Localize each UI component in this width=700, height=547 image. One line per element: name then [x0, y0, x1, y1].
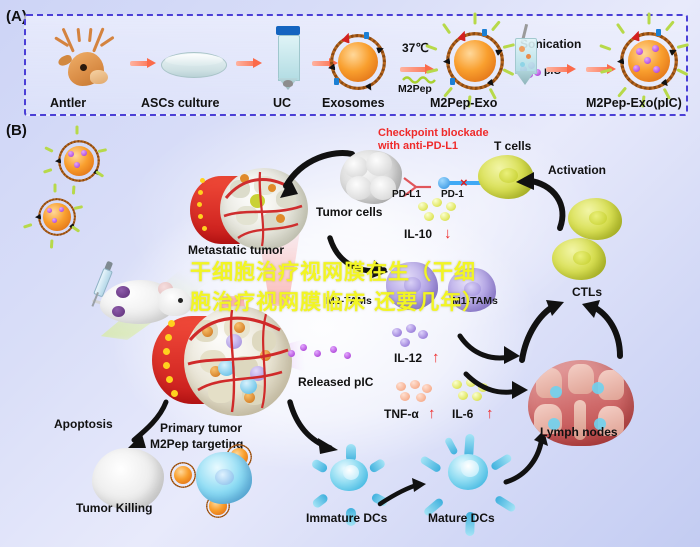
centrifuge-tube-icon — [276, 26, 300, 88]
mature-dc-illustration — [434, 440, 502, 504]
targeting-exosome-icon — [170, 462, 196, 488]
tnf-alpha-arrow: ↑ — [428, 406, 436, 422]
primary-tumor-label: Primary tumor — [160, 422, 242, 435]
t-cells-label: T cells — [494, 140, 531, 153]
primary-tumor-illustration — [152, 300, 294, 426]
petri-dish-icon — [161, 52, 227, 78]
exosome-pic-icon — [620, 32, 678, 90]
checkpoint-blockade-line1: Checkpoint blockade — [378, 128, 489, 140]
step-label-uc: UC — [273, 96, 291, 110]
exosome-peptide-icon — [446, 32, 504, 90]
arrow-to-m2tam — [328, 232, 390, 280]
arrow-dc-maturation — [378, 478, 428, 510]
step-label-m2pep-exo-pic: M2Pep-Exo(pIC) — [586, 96, 682, 110]
m1-tams-label: M1-TAMs — [452, 296, 498, 307]
deer-icon — [50, 26, 124, 88]
step-label-m2pep-exo: M2Pep-Exo — [430, 96, 497, 110]
step-label-exosomes: Exosomes — [322, 96, 385, 110]
ctls-label: CTLs — [572, 286, 602, 299]
activation-label: Activation — [548, 164, 606, 177]
arrow-lymph-to-ctl-right — [580, 300, 628, 360]
released-pic-label: Released pIC — [298, 376, 373, 389]
exosome-particle-icon — [58, 140, 100, 182]
lymph-nodes-label: Lymph nodes — [540, 426, 618, 439]
metastatic-tumor-label: Metastatic tumor — [188, 244, 284, 257]
scientific-figure: (A) Antler ASCs culture — [0, 0, 700, 547]
tumor-killing-label: Tumor Killing — [76, 502, 152, 515]
il-12-label: IL-12 — [394, 352, 422, 365]
process-arrow — [546, 64, 576, 74]
checkpoint-blockade-line2: with anti-PD-L1 — [378, 141, 458, 153]
il-10-label: IL-10 — [404, 228, 432, 241]
immature-dcs-label: Immature DCs — [306, 512, 387, 525]
targeted-macrophage-illustration — [196, 452, 252, 504]
panel-a-container: Antler ASCs culture UC — [24, 14, 688, 116]
m2-tams-label: M2-TAMs — [326, 296, 372, 307]
step-label-antler: Antler — [50, 96, 86, 110]
m2pep-label: M2Pep — [398, 84, 432, 95]
arrow-apoptosis — [126, 400, 170, 452]
il-10-arrow: ↓ — [444, 226, 452, 242]
m2-tam-illustration — [386, 262, 438, 310]
mature-dcs-label: Mature DCs — [428, 512, 495, 525]
arrow-lymph-to-ctl-left — [520, 300, 574, 364]
arrow-cytokines-to-lymph — [464, 372, 530, 414]
temperature-label: 37℃ — [402, 42, 429, 55]
process-arrow — [130, 58, 156, 68]
exosome-icon — [330, 34, 386, 90]
step-label-ascs: ASCs culture — [141, 96, 220, 110]
panel-b-tag: (B) — [6, 122, 27, 139]
ctl-cell-illustration — [552, 238, 606, 280]
sonication-tube-icon — [514, 30, 536, 88]
il-12-arrow: ↑ — [432, 350, 440, 366]
apoptosis-label: Apoptosis — [54, 418, 113, 431]
pd-l1-label: PD-L1 — [392, 190, 421, 201]
ctl-cell-illustration — [568, 198, 622, 240]
exosome-particle-icon — [38, 198, 76, 236]
tumor-cells-label: Tumor cells — [316, 206, 382, 219]
arrow-m1-to-lymph — [458, 332, 524, 376]
process-arrow — [236, 58, 262, 68]
activation-arrow — [512, 170, 574, 232]
tnf-alpha-label: TNF-α — [384, 408, 419, 421]
immature-dc-illustration — [318, 446, 380, 504]
pd-1-label: PD-1 — [441, 190, 464, 201]
